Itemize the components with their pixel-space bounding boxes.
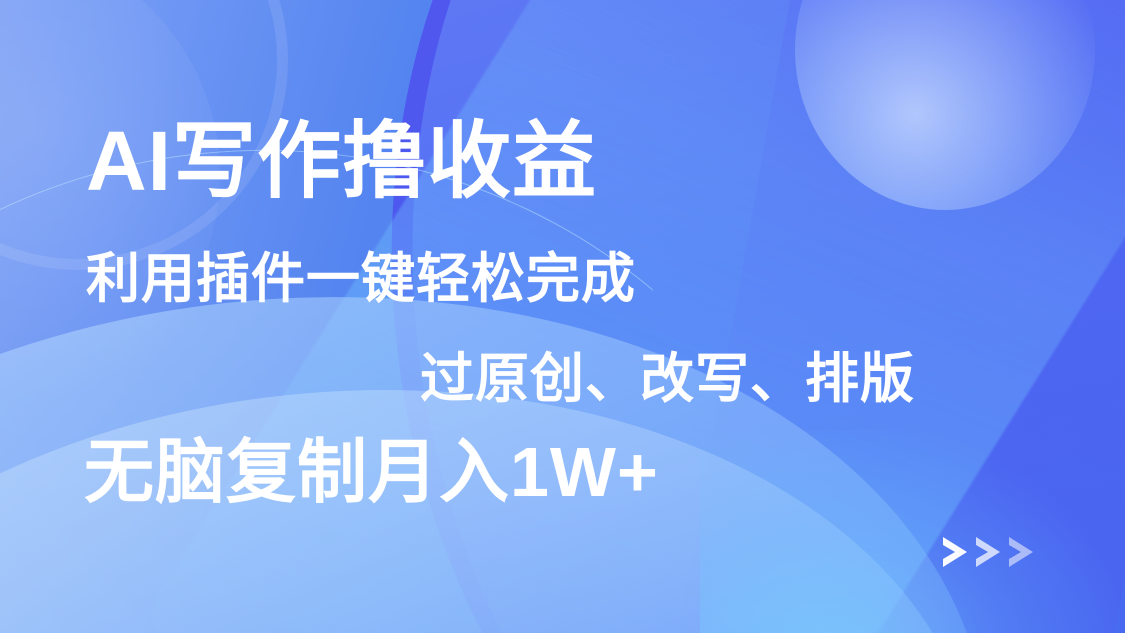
chevron-right-icon: [1007, 535, 1035, 569]
chevron-right-icon: [941, 535, 969, 569]
subtitle-line-3: 无脑复制月入1W+: [84, 437, 659, 507]
page-title: AI写作撸收益: [86, 119, 597, 203]
promo-poster: AI写作撸收益 利用插件一键轻松完成 过原创、改写、排版 无脑复制月入1W+: [0, 0, 1125, 633]
subtitle-line-1: 利用插件一键轻松完成: [86, 252, 636, 306]
chevron-group: [941, 535, 1035, 569]
subtitle-line-2: 过原创、改写、排版: [420, 352, 915, 406]
poster-content: AI写作撸收益 利用插件一键轻松完成 过原创、改写、排版 无脑复制月入1W+: [0, 0, 1125, 633]
chevron-right-icon: [974, 535, 1002, 569]
